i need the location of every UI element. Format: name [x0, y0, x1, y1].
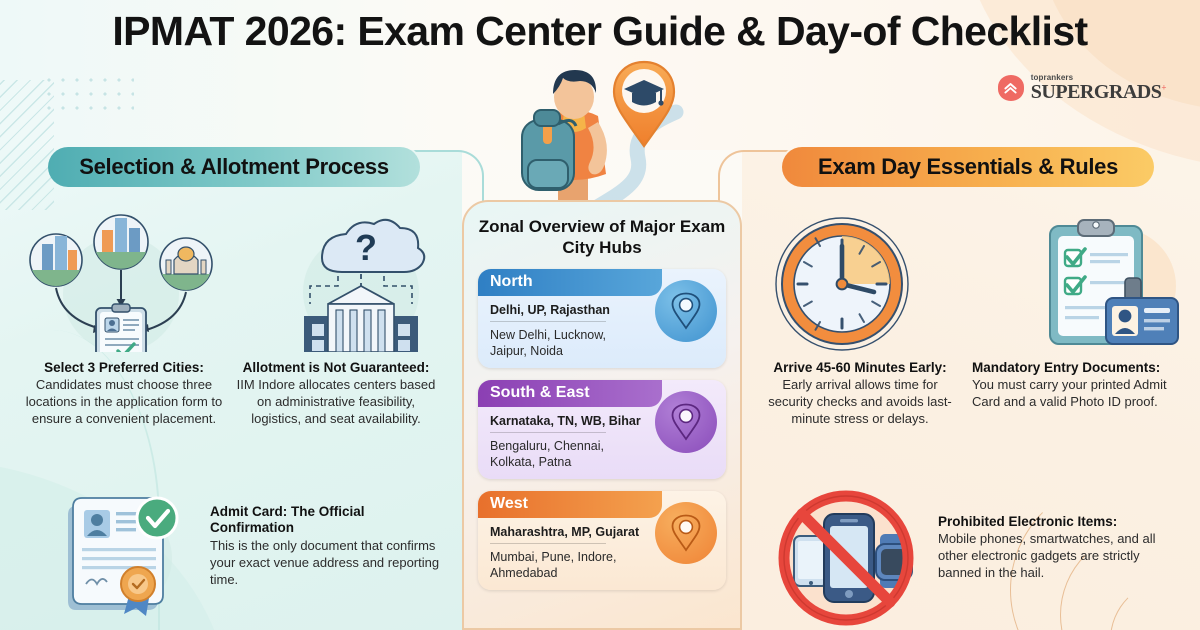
left-item-1-heading: Select 3 Preferred Cities:	[24, 360, 224, 376]
right-pill-label: Exam Day Essentials & Rules	[818, 154, 1118, 180]
no-electronics-prohibited-icon	[768, 488, 928, 628]
graduation-cap-map-pin-icon	[608, 58, 680, 150]
right-item-2: Mandatory Entry Documents: You must carr…	[966, 360, 1178, 428]
center-hero-illustration	[462, 46, 742, 221]
brand-logo: toprankers SUPERGRADS+	[998, 74, 1166, 102]
left-item-2-body: IIM Indore allocates centers based on ad…	[236, 377, 436, 428]
right-wide-heading: Prohibited Electronic Items:	[938, 514, 1174, 530]
zone-cities-north: New Delhi, Lucknow, Jaipur, Noida	[490, 327, 629, 359]
right-text-pair: Arrive 45-60 Minutes Early: Early arriva…	[754, 360, 1194, 428]
right-item-1-heading: Arrive 45-60 Minutes Early:	[760, 360, 960, 376]
right-item-1-body: Early arrival allows time for security c…	[760, 377, 960, 428]
left-wide-body: This is the only document that confirms …	[210, 538, 446, 589]
right-item-1: Arrive 45-60 Minutes Early: Early arriva…	[754, 360, 966, 428]
left-item-1: Select 3 Preferred Cities: Candidates mu…	[18, 360, 230, 428]
zone-card-north[interactable]: North Delhi, UP, Rajasthan New Delhi, Lu…	[478, 269, 726, 368]
clipboard-id-card-icon	[1030, 212, 1190, 357]
infographic-canvas: IPMAT 2026: Exam Center Guide & Day-of C…	[0, 0, 1200, 630]
dot-grid-decoration	[42, 73, 134, 113]
cloud-question-institute-icon: ?	[266, 212, 456, 352]
left-icons-row: ?	[26, 212, 456, 352]
zone-divider	[490, 543, 606, 544]
right-icons-row	[762, 212, 1190, 357]
clock-icon	[762, 212, 922, 357]
left-item-2: Allotment is Not Guaranteed: IIM Indore …	[230, 360, 442, 428]
left-item-2-heading: Allotment is Not Guaranteed:	[236, 360, 436, 376]
zone-divider	[490, 321, 606, 322]
left-text-pair: Select 3 Preferred Cities: Candidates mu…	[18, 360, 458, 428]
zonal-panel-title: Zonal Overview of Major Exam City Hubs	[478, 216, 726, 259]
map-pin-icon	[655, 280, 717, 342]
zone-divider	[490, 432, 606, 433]
zone-cities-south-east: Bengaluru, Chennai, Kolkata, Patna	[490, 438, 629, 470]
section-header-selection-allotment: Selection & Allotment Process	[48, 147, 420, 187]
diagonal-hatch-decoration	[0, 80, 54, 210]
right-wide-text: Prohibited Electronic Items: Mobile phon…	[938, 488, 1174, 582]
right-item-2-heading: Mandatory Entry Documents:	[972, 360, 1172, 376]
three-cities-to-form-icon	[26, 212, 216, 352]
zone-name-north: North	[490, 273, 533, 291]
right-wide-item: Prohibited Electronic Items: Mobile phon…	[768, 488, 1188, 628]
left-wide-item: Admit Card: The Official Confirmation Th…	[50, 490, 450, 622]
brand-name: SUPERGRADS	[1031, 81, 1162, 103]
left-wide-heading: Admit Card: The Official Confirmation	[210, 504, 446, 537]
left-wide-text: Admit Card: The Official Confirmation Th…	[210, 490, 446, 589]
left-pill-label: Selection & Allotment Process	[79, 154, 389, 180]
zone-cities-west: Mumbai, Pune, Indore, Ahmedabad	[490, 549, 629, 581]
section-header-exam-day: Exam Day Essentials & Rules	[782, 147, 1154, 187]
right-item-2-body: You must carry your printed Admit Card a…	[972, 377, 1172, 411]
zonal-overview-panel: Zonal Overview of Major Exam City Hubs N…	[462, 200, 742, 630]
zone-name-south-east: South & East	[490, 384, 590, 402]
zone-card-west[interactable]: West Maharashtra, MP, Gujarat Mumbai, Pu…	[478, 491, 726, 590]
admit-card-certificate-icon	[50, 490, 200, 622]
left-item-1-body: Candidates must choose three locations i…	[24, 377, 224, 428]
map-pin-icon	[655, 502, 717, 564]
chevrons-up-icon	[998, 75, 1024, 101]
zone-card-south-east[interactable]: South & East Karnataka, TN, WB, Bihar Be…	[478, 380, 726, 479]
zone-name-west: West	[490, 495, 528, 513]
map-pin-icon	[655, 391, 717, 453]
svg-text:?: ?	[355, 227, 377, 268]
right-wide-body: Mobile phones, smartwatches, and all oth…	[938, 531, 1174, 582]
